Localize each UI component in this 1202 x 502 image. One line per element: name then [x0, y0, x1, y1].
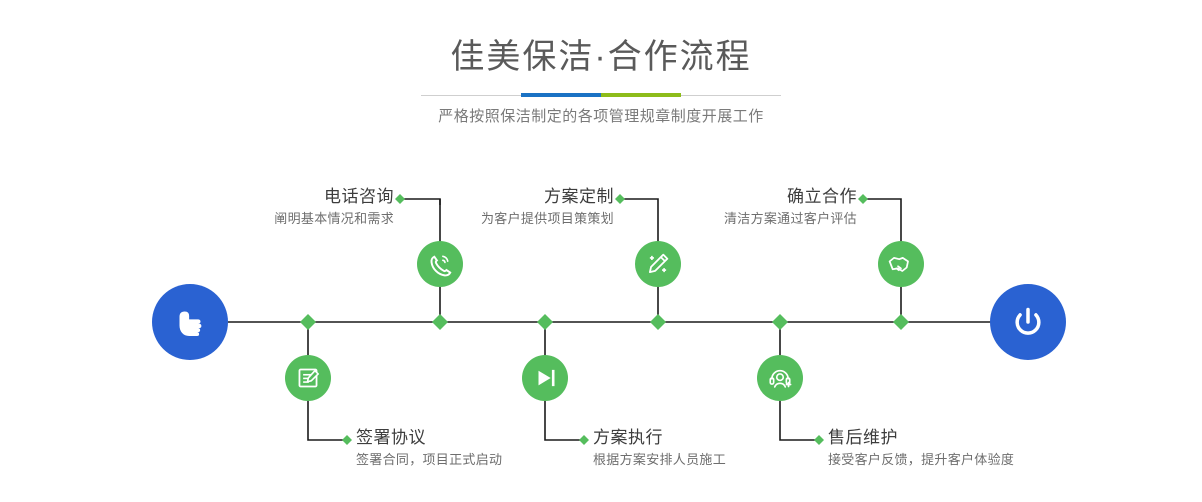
power-button-icon: [1008, 302, 1048, 342]
timeline-diamond-3: [537, 314, 553, 330]
document-sign-icon: [295, 365, 321, 391]
step-title-2: 签署协议: [356, 427, 502, 449]
step-label-6: 售后维护 接受客户反馈，提升客户体验度: [828, 427, 1014, 470]
connector-step-4-elbow: [545, 401, 581, 440]
connector-step-2-elbow: [308, 401, 344, 440]
step-node-6[interactable]: [757, 355, 803, 401]
step-title-3: 方案定制: [481, 186, 614, 208]
handshake-icon: [887, 250, 915, 278]
step-desc-2: 签署合同，项目正式启动: [356, 450, 502, 470]
play-next-icon: [532, 365, 558, 391]
step-title-5: 确立合作: [724, 186, 857, 208]
step-desc-1: 阐明基本情况和需求: [274, 209, 394, 229]
connector-step-3-elbow: [624, 199, 658, 242]
step-node-5[interactable]: [878, 241, 924, 287]
connector-step-1-elbow: [404, 199, 440, 242]
timeline-diamond-6: [893, 314, 909, 330]
step-title-6: 售后维护: [828, 427, 1014, 449]
label-diamond-step-6: [814, 435, 824, 445]
timeline-diamond-5: [772, 314, 788, 330]
step-node-3[interactable]: [635, 241, 681, 287]
step-label-1: 电话咨询 阐明基本情况和需求: [274, 186, 394, 229]
connector-step-5-elbow: [867, 199, 901, 242]
phone-call-icon: [427, 251, 453, 277]
step-node-1[interactable]: [417, 241, 463, 287]
cooperation-flow-page: 佳美保洁·合作流程 严格按照保洁制定的各项管理规章制度开展工作: [0, 0, 1202, 502]
step-label-2: 签署协议 签署合同，项目正式启动: [356, 427, 502, 470]
step-node-2[interactable]: [285, 355, 331, 401]
step-node-4[interactable]: [522, 355, 568, 401]
label-diamond-step-3: [615, 194, 625, 204]
label-diamond-step-4: [579, 435, 589, 445]
step-label-5: 确立合作 清洁方案通过客户评估: [724, 186, 857, 229]
step-desc-3: 为客户提供项目策策划: [481, 209, 614, 229]
flow-start-node[interactable]: [152, 284, 228, 360]
step-label-4: 方案执行 根据方案安排人员施工: [593, 427, 726, 470]
step-title-4: 方案执行: [593, 427, 726, 449]
timeline-diamond-1: [300, 314, 316, 330]
step-desc-4: 根据方案安排人员施工: [593, 450, 726, 470]
step-desc-5: 清洁方案通过客户评估: [724, 209, 857, 229]
timeline-diamond-2: [432, 314, 448, 330]
label-diamond-step-5: [858, 194, 868, 204]
timeline-diamond-4: [650, 314, 666, 330]
step-desc-6: 接受客户反馈，提升客户体验度: [828, 450, 1014, 470]
customer-support-icon: [767, 365, 793, 391]
step-label-3: 方案定制 为客户提供项目策策划: [481, 186, 614, 229]
step-title-1: 电话咨询: [274, 186, 394, 208]
label-diamond-step-2: [342, 435, 352, 445]
pointing-hand-icon: [169, 301, 211, 343]
label-diamond-step-1: [395, 194, 405, 204]
flow-end-node[interactable]: [990, 284, 1066, 360]
connector-step-6-elbow: [780, 401, 816, 440]
pencil-edit-icon: [645, 251, 671, 277]
